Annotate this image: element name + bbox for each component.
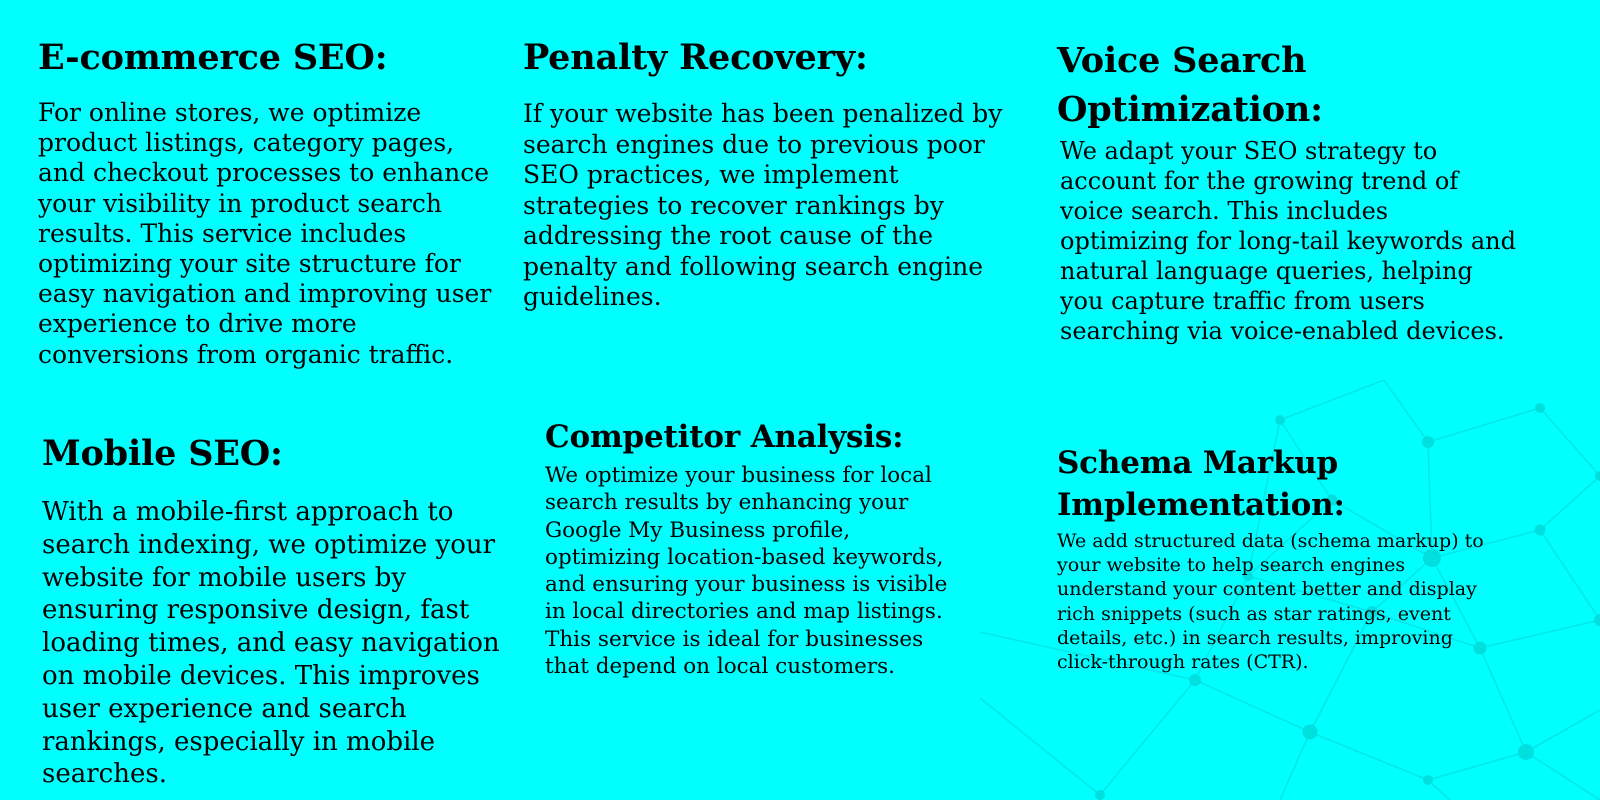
service-card-mobile-seo: Mobile SEO: With a mobile-first approach… (42, 432, 522, 791)
card-heading-penalty-recovery: Penalty Recovery: (523, 36, 1003, 80)
service-card-schema-markup-implementation: Schema Markup Implementation: We add str… (1057, 442, 1487, 674)
service-card-ecommerce-seo: E-commerce SEO: For online stores, we op… (38, 36, 508, 370)
card-heading-competitor-analysis: Competitor Analysis: (545, 416, 965, 458)
card-heading-mobile-seo: Mobile SEO: (42, 432, 522, 476)
service-card-penalty-recovery: Penalty Recovery: If your website has be… (523, 36, 1003, 313)
card-body-mobile-seo: With a mobile-first approach to search i… (42, 496, 522, 791)
service-card-competitor-analysis: Competitor Analysis: We optimize your bu… (545, 416, 965, 680)
card-body-ecommerce-seo: For online stores, we optimize product l… (38, 98, 508, 370)
card-body-schema-markup-implementation: We add structured data (schema markup) t… (1057, 529, 1487, 674)
card-heading-ecommerce-seo: E-commerce SEO: (38, 36, 508, 80)
services-card-grid: E-commerce SEO: For online stores, we op… (0, 0, 1600, 800)
card-body-voice-search-optimization: We adapt your SEO strategy to account fo… (1057, 136, 1522, 346)
card-body-penalty-recovery: If your website has been penalized by se… (523, 99, 1003, 313)
service-card-voice-search-optimization: Voice Search Optimization: We adapt your… (1057, 36, 1522, 346)
card-heading-schema-markup-implementation: Schema Markup Implementation: (1057, 442, 1487, 526)
card-heading-voice-search-optimization: Voice Search Optimization: (1057, 36, 1522, 134)
card-body-competitor-analysis: We optimize your business for local sear… (545, 462, 965, 680)
